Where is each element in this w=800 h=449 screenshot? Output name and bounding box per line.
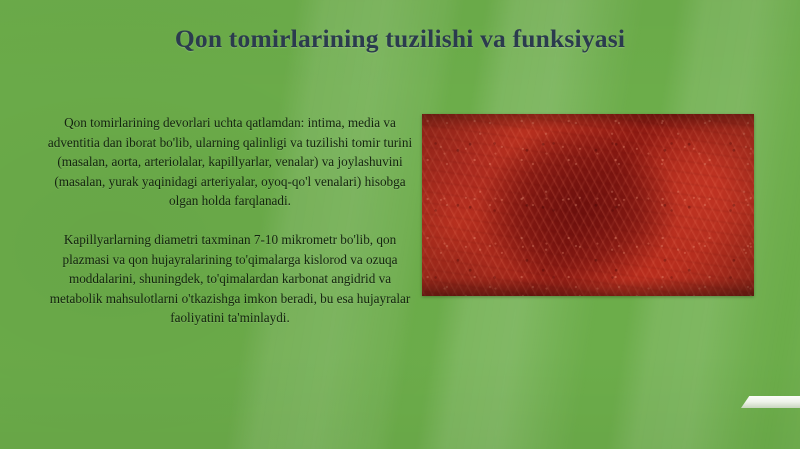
capillary-network-image [422, 114, 754, 296]
slide-title: Qon tomirlarining tuzilishi va funksiyas… [0, 24, 800, 55]
image-vignette-layer [422, 114, 754, 296]
presentation-slide: Qon tomirlarining tuzilishi va funksiyas… [0, 0, 800, 449]
body-text-column: Qon tomirlarining devorlari uchta qatlam… [42, 113, 418, 328]
body-paragraph-1: Qon tomirlarining devorlari uchta qatlam… [42, 113, 418, 211]
body-paragraph-2: Kapillyarlarning diametri taxminan 7-10 … [42, 230, 418, 328]
accent-bar-decoration [741, 396, 800, 408]
